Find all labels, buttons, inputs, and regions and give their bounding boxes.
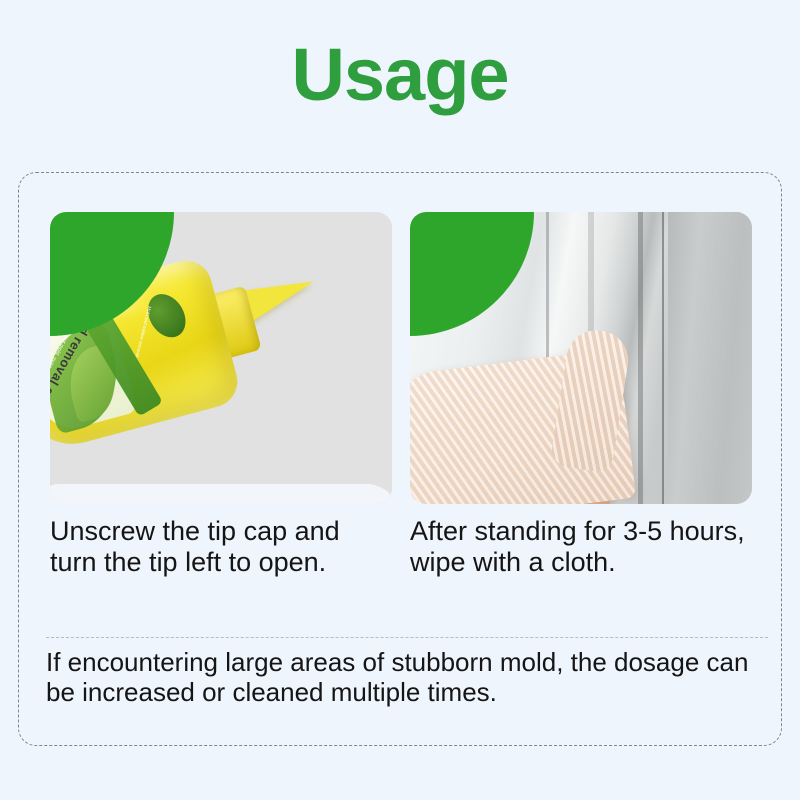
step-02-photo: 02	[410, 212, 752, 504]
photo-shelf-surface	[50, 484, 392, 504]
page-title: Usage	[0, 38, 800, 112]
product-oval-text: Mold and mildew removal	[133, 305, 152, 357]
window-frame-seal	[662, 212, 664, 504]
usage-note: If encountering large areas of stubborn …	[46, 647, 772, 708]
step-02-caption: After standing for 3-5 hours, wipe with …	[410, 516, 752, 577]
step-01-photo: Furniture without mold, mold-free home p…	[50, 212, 392, 504]
step-01-caption: Unscrew the tip cap and turn the tip lef…	[50, 516, 392, 577]
note-divider	[46, 637, 768, 638]
wall-panel	[668, 212, 752, 504]
window-frame-line	[638, 212, 643, 504]
step-01: Furniture without mold, mold-free home p…	[50, 212, 392, 577]
step-02: 02 After standing for 3-5 hours, wipe wi…	[410, 212, 752, 577]
steps-row: Furniture without mold, mold-free home p…	[50, 212, 766, 577]
